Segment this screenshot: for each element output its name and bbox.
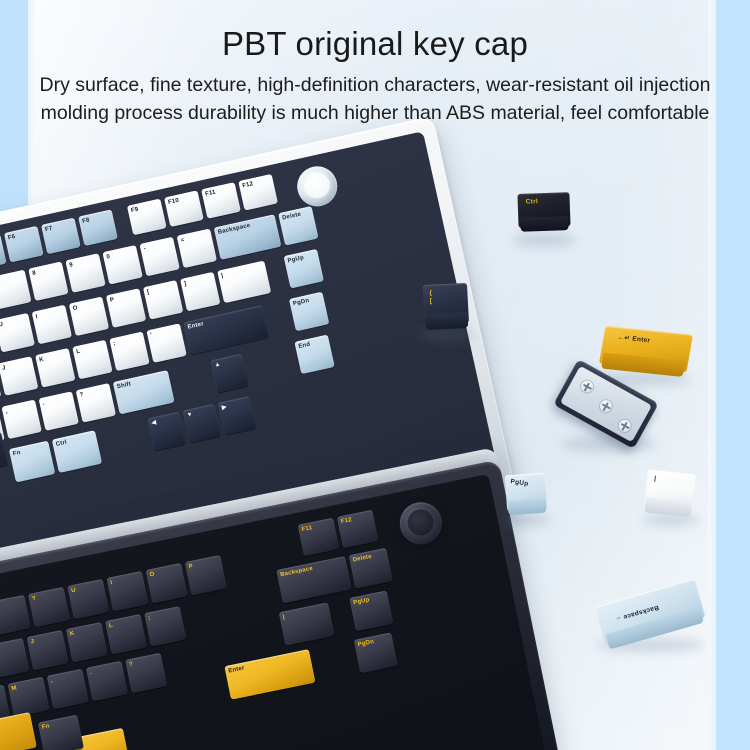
- key-label: U: [67, 585, 76, 595]
- key-label: I: [106, 577, 112, 586]
- page-title: PBT original key cap: [0, 0, 750, 62]
- key-u-black[interactable]: U: [67, 579, 109, 619]
- cap-enter-yellow[interactable]: ←↵ Enter: [599, 326, 693, 373]
- cap-pipe-shadow: [643, 514, 699, 526]
- key-label: Ctrl: [52, 437, 68, 448]
- key-label: ?: [125, 659, 133, 669]
- arrow-right-icon: ▶: [218, 401, 227, 411]
- key-label: P: [106, 294, 115, 304]
- key-arrow-up[interactable]: ▲: [210, 354, 248, 393]
- arrow-up-icon: ▲: [210, 359, 221, 369]
- key-label: F8: [78, 215, 90, 226]
- key-comma-black[interactable]: ,: [47, 669, 89, 709]
- key-o-black[interactable]: O: [146, 563, 188, 603]
- cap-stem-mount: [617, 418, 633, 434]
- key-l-black[interactable]: L: [105, 614, 147, 654]
- key-y-black[interactable]: Y: [28, 587, 70, 627]
- key-label: J: [27, 636, 35, 646]
- key-label: F11: [298, 522, 313, 533]
- key-label: ?: [76, 389, 85, 399]
- key-label: O: [146, 569, 155, 579]
- key-label: K: [35, 354, 44, 364]
- key-label: =: [177, 235, 185, 245]
- key-label: 9: [65, 259, 73, 269]
- key-j-black[interactable]: J: [27, 630, 69, 670]
- key-label: L: [105, 620, 113, 630]
- key-label: K: [66, 628, 75, 638]
- cap-stem-mount: [598, 398, 614, 414]
- cap-pgup-lightblue[interactable]: PgUp: [505, 473, 547, 512]
- key-label: F9: [127, 204, 139, 215]
- key-m-black[interactable]: M: [8, 677, 50, 717]
- key-label: J: [0, 362, 6, 372]
- cap-stem-mount: [579, 378, 595, 394]
- arrow-down-icon: ▼: [183, 409, 194, 419]
- key-label: P: [185, 561, 194, 571]
- key-p-black[interactable]: P: [185, 555, 227, 595]
- key-label: End: [294, 339, 310, 351]
- key-label: U: [0, 319, 4, 329]
- cap-pipe-white[interactable]: |: [644, 470, 696, 513]
- page-subtitle: Dry surface, fine texture, high-definiti…: [22, 72, 728, 127]
- key-label: ;: [144, 612, 151, 621]
- key-semicolon-black[interactable]: ;: [144, 606, 186, 646]
- key-label: I: [32, 311, 39, 320]
- key-label: M: [8, 682, 18, 692]
- key-label: 0: [102, 251, 110, 261]
- cap-bracket-shadow: [418, 328, 474, 341]
- key-label: ,: [1, 406, 8, 415]
- key-label: 8: [28, 267, 36, 277]
- key-label: F11: [201, 187, 216, 198]
- key-label: Fn: [38, 721, 50, 731]
- key-label: .: [39, 398, 46, 407]
- key-label: Y: [28, 593, 37, 603]
- cap-label: Ctrl: [526, 198, 539, 205]
- key-label: |: [217, 270, 224, 279]
- cap-skirt: [508, 499, 547, 516]
- key-label: F6: [4, 231, 16, 242]
- key-label: F12: [337, 514, 352, 525]
- cap-skirt: [426, 312, 468, 330]
- key-label: [: [143, 286, 150, 295]
- key-label: -: [140, 243, 147, 252]
- cap-ctrl-black[interactable]: Ctrl: [517, 192, 570, 228]
- key-arrow-right[interactable]: ▶: [218, 396, 256, 435]
- key-label: O: [69, 302, 79, 312]
- cap-ctrl-shadow: [512, 233, 576, 247]
- key-slash-black[interactable]: ?: [125, 653, 167, 693]
- key-label: ,: [47, 675, 53, 684]
- key-period-black[interactable]: .: [86, 661, 128, 701]
- key-label: ;: [109, 338, 116, 347]
- header: PBT original key cap Dry surface, fine t…: [0, 0, 750, 128]
- key-arrow-left[interactable]: ◀: [147, 412, 185, 451]
- cap-skirt: [520, 217, 569, 232]
- key-label: |: [279, 611, 285, 620]
- cap-label: {[: [429, 290, 433, 306]
- key-label: L: [72, 346, 81, 356]
- key-label: ': [146, 330, 152, 339]
- cap-spacebar-shadow: [562, 436, 656, 452]
- key-label: ]: [180, 278, 187, 287]
- key-k-black[interactable]: K: [66, 622, 108, 662]
- key-label: F12: [238, 178, 253, 189]
- key-arrow-down[interactable]: ▼: [183, 404, 221, 443]
- key-label: F10: [164, 195, 179, 206]
- key-i-black[interactable]: I: [106, 571, 148, 611]
- cap-bracket-navy[interactable]: {[: [423, 283, 469, 325]
- key-label: .: [86, 667, 92, 676]
- key-label: F7: [41, 223, 53, 234]
- key-label: Fn: [9, 447, 21, 458]
- product-image-canvas: PBT original key cap Dry surface, fine t…: [0, 0, 750, 750]
- arrow-left-icon: ◀: [147, 417, 156, 427]
- cap-pgup-shadow: [503, 514, 551, 526]
